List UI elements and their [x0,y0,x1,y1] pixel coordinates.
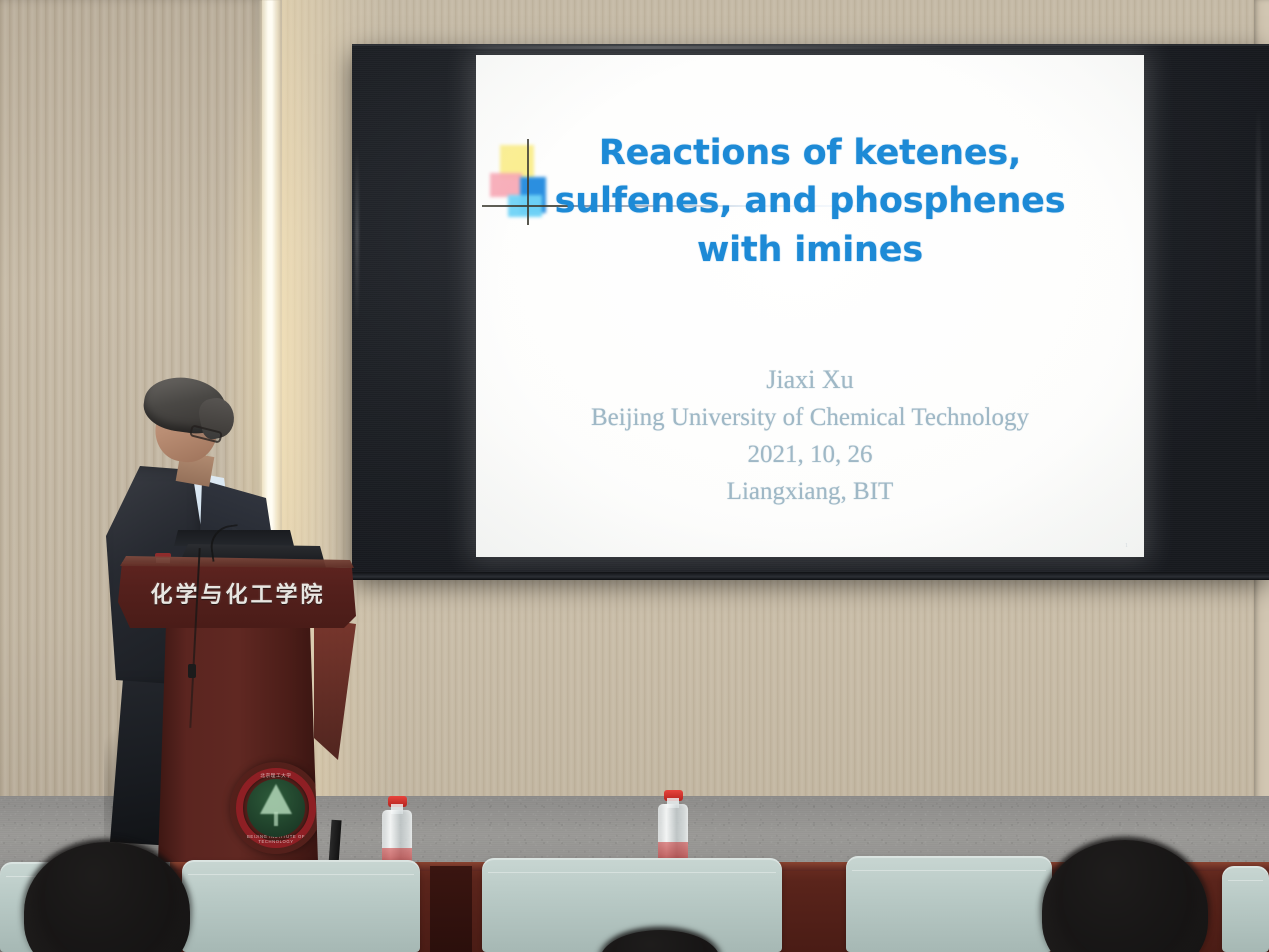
slide-subtitle: Jiaxi Xu Beijing University of Chemical … [500,361,1120,510]
presentation-screen[interactable]: Reactions of ketenes, sulfenes, and phos… [352,44,1269,574]
pine-tree-trunk [274,812,278,826]
slide-date: 2021, 10, 26 [500,436,1120,473]
lectern-column: 北京理工大学 BEIJING INSTITUTE OF TECHNOLOGY [158,624,318,862]
screen-right-highlight [1256,104,1261,424]
slide-title: Reactions of ketenes, sulfenes, and phos… [510,129,1110,274]
lectern: 北京理工大学 BEIJING INSTITUTE OF TECHNOLOGY 化… [118,552,356,864]
slide-affiliation: Beijing University of Chemical Technolog… [500,399,1120,436]
chair-seam [1228,880,1263,881]
bottle-label [658,842,688,858]
chair[interactable] [846,856,1052,952]
slide-title-line-1: Reactions of ketenes, [510,129,1110,177]
table-gap [430,866,472,952]
chair[interactable] [182,860,420,952]
pine-tree-icon [260,784,292,814]
chair-seam [188,874,414,875]
chair-seam [488,872,776,873]
audience-head [24,842,190,952]
screen-left-highlight [355,144,359,324]
chair[interactable] [1222,866,1269,952]
slide-title-line-3: with imines [510,226,1110,274]
lecture-hall-scene: Reactions of ketenes, sulfenes, and phos… [0,0,1269,952]
slide-location: Liangxiang, BIT [500,473,1120,510]
chair-seam [852,870,1046,871]
screen-top-highlight [392,46,952,49]
university-emblem: 北京理工大学 BEIJING INSTITUTE OF TECHNOLOGY [230,762,322,854]
slide-author: Jiaxi Xu [500,361,1120,399]
audience-head [1042,840,1208,952]
slide-title-line-2: sulfenes, and phosphenes [510,177,1110,225]
slide-page-number: 1 [1125,543,1128,549]
lectern-name-plate: 化学与化工学院 [136,572,340,614]
cable-clip [188,664,196,678]
screen-bottom-edge [352,572,1269,580]
water-bottle[interactable] [656,790,690,864]
projected-slide[interactable]: Reactions of ketenes, sulfenes, and phos… [476,55,1144,557]
lectern-side-panel [314,618,356,760]
water-bottle[interactable] [380,796,414,870]
